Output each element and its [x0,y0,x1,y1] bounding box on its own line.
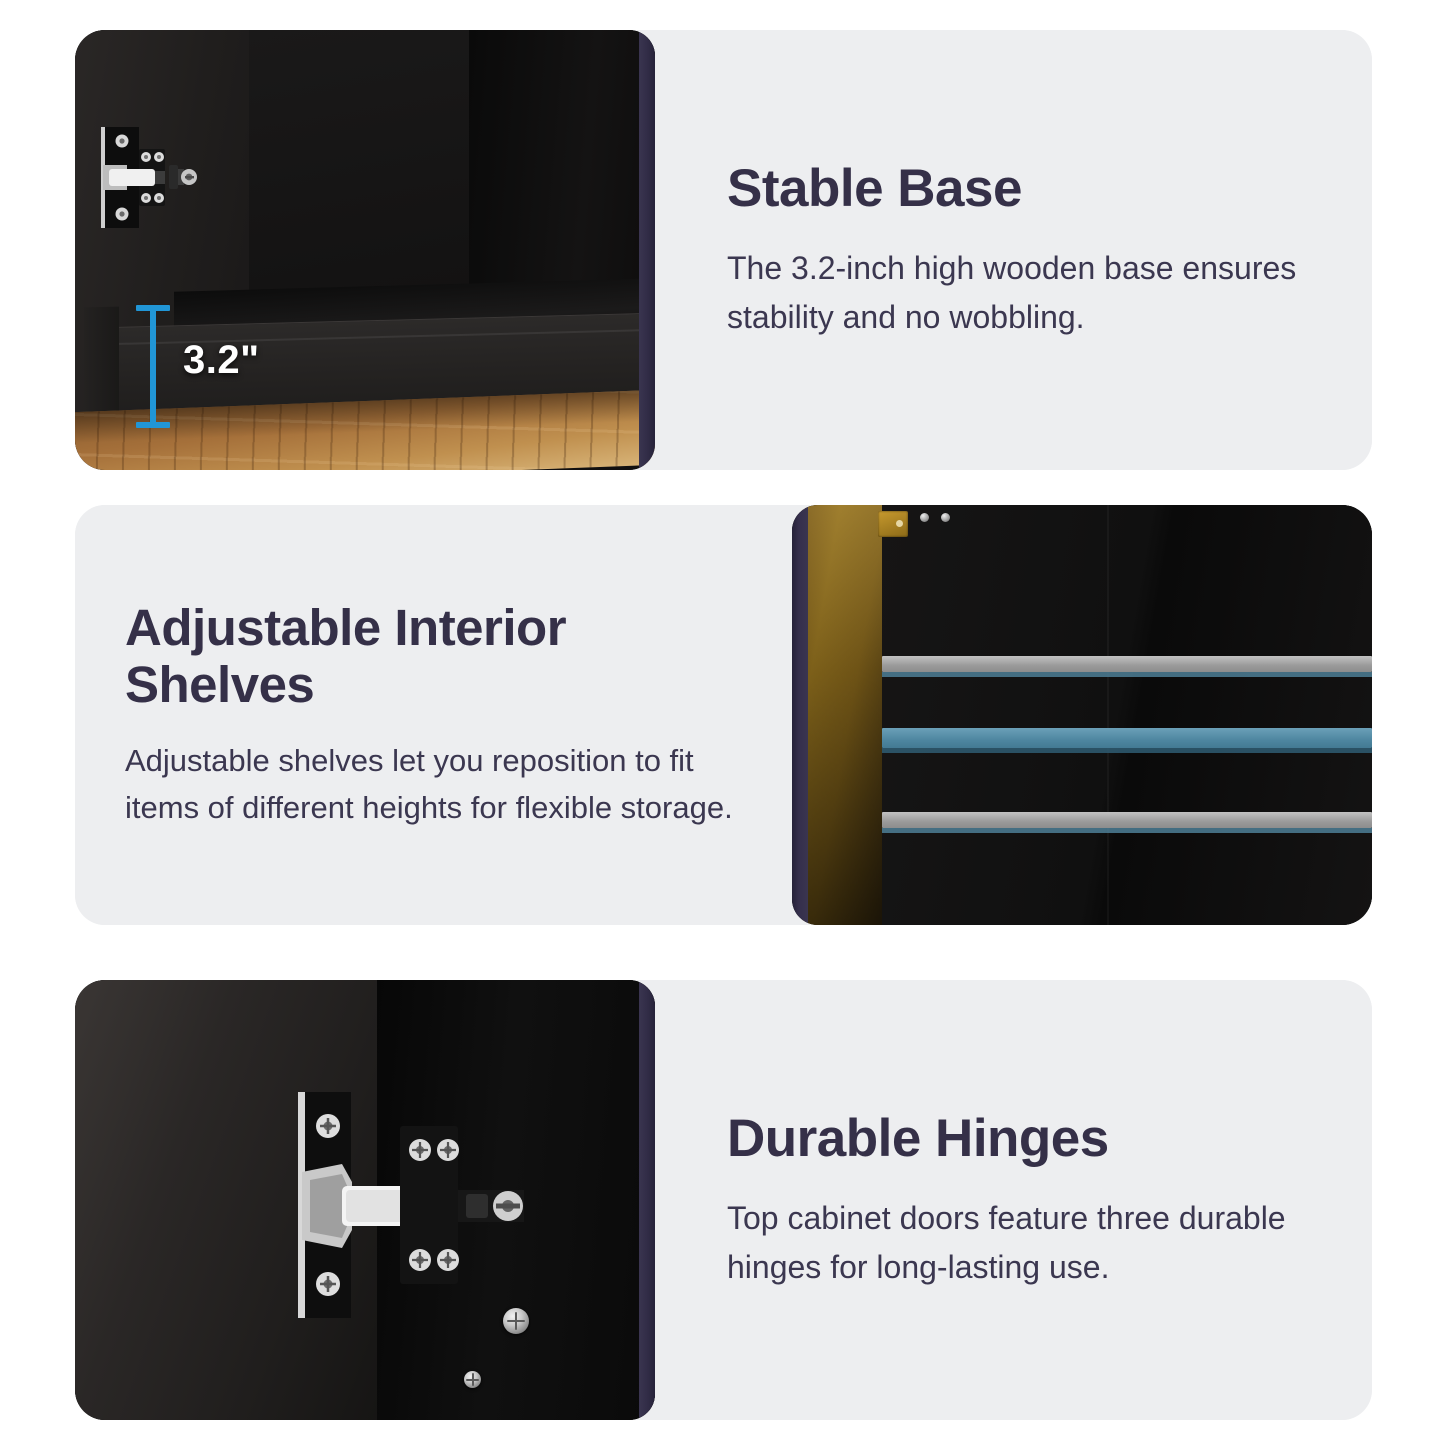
feature-text-adjustable-shelves: Adjustable Interior Shelves Adjustable s… [75,505,792,925]
panel-edge-left [792,505,808,925]
feature-image-durable-hinges [75,980,655,1420]
durable-hinge-photo [75,980,655,1420]
brass-hinge-plate-icon [878,511,908,537]
feature-title: Durable Hinges [727,1109,1312,1168]
adjustable-shelves-photo [792,505,1372,925]
cabinet-side-panel [802,505,882,925]
panel-seam [1107,505,1109,925]
feature-image-stable-base: 3.2" [75,30,655,470]
feature-title: Stable Base [727,159,1312,218]
phillips-screw-icon-small [464,1371,481,1388]
feature-description: The 3.2-inch high wooden base ensures st… [727,244,1312,341]
cabinet-base-photo [75,30,655,470]
shelf-bottom [882,812,1372,828]
shelf-pin-screw-icon [920,513,950,522]
feature-title: Adjustable Interior Shelves [125,599,742,713]
cabinet-interior [882,505,1372,925]
feature-description: Top cabinet doors feature three durable … [727,1194,1312,1291]
feature-text-stable-base: Stable Base The 3.2-inch high wooden bas… [655,30,1372,470]
feature-card-durable-hinges: Durable Hinges Top cabinet doors feature… [75,980,1372,1420]
concealed-hinge-icon [280,1090,570,1320]
phillips-screw-icon [503,1308,529,1334]
feature-card-adjustable-shelves: Adjustable Interior Shelves Adjustable s… [75,505,1372,925]
panel-edge-right [639,30,655,470]
feature-description: Adjustable shelves let you reposition to… [125,737,742,831]
feature-card-stable-base: 3.2" Stable Base The 3.2-inch high woode… [75,30,1372,470]
feature-text-durable-hinges: Durable Hinges Top cabinet doors feature… [655,980,1372,1420]
panel-edge-right [639,980,655,1420]
feature-infographic-page: 3.2" Stable Base The 3.2-inch high woode… [0,0,1445,1445]
cabinet-hinge-icon [93,125,205,230]
dimension-label: 3.2" [183,338,260,383]
feature-image-adjustable-shelves [792,505,1372,925]
shelf-top [882,656,1372,672]
shelf-middle-highlighted [882,728,1372,748]
